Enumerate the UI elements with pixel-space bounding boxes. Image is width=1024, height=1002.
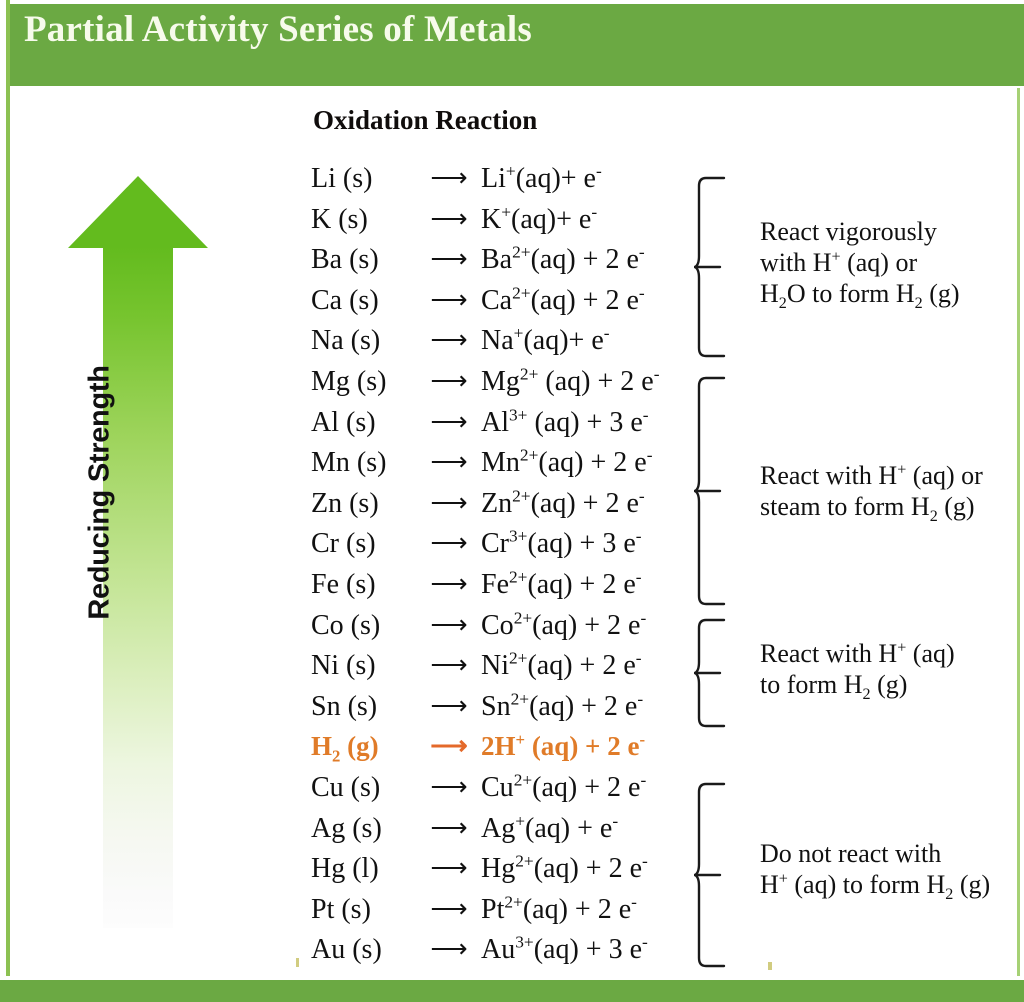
reaction-arrow-icon: ⟶ xyxy=(417,528,481,558)
reaction-arrow-icon: ⟶ xyxy=(417,772,481,802)
note-1-line-2: with H+ (aq) or xyxy=(760,247,960,278)
equation-product: Hg2+(aq) + 2 e- xyxy=(481,853,705,885)
equation-row: K (s)⟶K+(aq)+ e- xyxy=(305,204,705,245)
equation-row: Zn (s)⟶Zn2+(aq) + 2 e- xyxy=(305,488,705,529)
page-title: Partial Activity Series of Metals xyxy=(24,5,532,55)
equation-product: Fe2+(aq) + 2 e- xyxy=(481,569,705,601)
brace-group-2 xyxy=(694,376,728,606)
equation-row: Li (s)⟶Li+(aq)+ e- xyxy=(305,163,705,204)
note-3-line-1: React with H+ (aq) xyxy=(760,638,955,669)
equation-row: Cu (s)⟶Cu2+(aq) + 2 e- xyxy=(305,772,705,813)
equation-row: Ag (s)⟶Ag+(aq) + e- xyxy=(305,813,705,854)
equation-row: Au (s)⟶Au3+(aq) + 3 e- xyxy=(305,934,705,975)
reaction-arrow-icon: ⟶ xyxy=(417,407,481,437)
equation-reactant: Ni (s) xyxy=(305,650,417,682)
equation-product: Li+(aq)+ e- xyxy=(481,163,705,195)
equation-row: Hg (l)⟶Hg2+(aq) + 2 e- xyxy=(305,853,705,894)
equation-row: Ca (s)⟶Ca2+(aq) + 2 e- xyxy=(305,285,705,326)
note-2-line-2: steam to form H2 (g) xyxy=(760,491,983,522)
bottom-border xyxy=(0,980,1024,1002)
equation-product: K+(aq)+ e- xyxy=(481,204,705,236)
equation-reactant: Fe (s) xyxy=(305,569,417,601)
equation-row: Pt (s)⟶Pt2+(aq) + 2 e- xyxy=(305,894,705,935)
equation-row: Cr (s)⟶Cr3+(aq) + 3 e- xyxy=(305,528,705,569)
equation-product: Cu2+(aq) + 2 e- xyxy=(481,772,705,804)
reaction-arrow-icon: ⟶ xyxy=(417,285,481,315)
note-group-4: Do not react with H+ (aq) to form H2 (g) xyxy=(760,838,990,900)
reaction-arrow-icon: ⟶ xyxy=(417,813,481,843)
reaction-arrow-icon: ⟶ xyxy=(417,325,481,355)
equation-product: Mn2+(aq) + 2 e- xyxy=(481,447,705,479)
brace-group-3 xyxy=(694,618,728,728)
equation-row: H2 (g)⟶2H+ (aq) + 2 e- xyxy=(305,731,705,772)
reaction-arrow-icon: ⟶ xyxy=(417,731,481,761)
reducing-strength-arrow: Reducing Strength xyxy=(68,176,208,928)
note-3-line-2: to form H2 (g) xyxy=(760,669,955,700)
equation-reactant: Ag (s) xyxy=(305,813,417,845)
equation-reactant: Li (s) xyxy=(305,163,417,195)
equation-product: Ni2+(aq) + 2 e- xyxy=(481,650,705,682)
note-4-line-2: H+ (aq) to form H2 (g) xyxy=(760,869,990,900)
equation-reactant: Au (s) xyxy=(305,934,417,966)
equation-reactant: Ba (s) xyxy=(305,244,417,276)
equation-product: Pt2+(aq) + 2 e- xyxy=(481,894,705,926)
activity-series-diagram: Partial Activity Series of Metals Reduci… xyxy=(0,0,1024,1002)
equation-row: Ni (s)⟶Ni2+(aq) + 2 e- xyxy=(305,650,705,691)
equation-reactant: K (s) xyxy=(305,204,417,236)
equation-product: Zn2+(aq) + 2 e- xyxy=(481,488,705,520)
reaction-arrow-icon: ⟶ xyxy=(417,366,481,396)
equation-product: Cr3+(aq) + 3 e- xyxy=(481,528,705,560)
equation-product: 2H+ (aq) + 2 e- xyxy=(481,731,705,762)
note-group-1: React vigorously with H+ (aq) or H2O to … xyxy=(760,216,960,309)
equation-row: Na (s)⟶Na+(aq)+ e- xyxy=(305,325,705,366)
reaction-arrow-icon: ⟶ xyxy=(417,488,481,518)
equation-product: Ag+(aq) + e- xyxy=(481,813,705,845)
equation-product: Na+(aq)+ e- xyxy=(481,325,705,357)
note-2-line-1: React with H+ (aq) or xyxy=(760,460,983,491)
right-border xyxy=(1017,88,1020,978)
oxidation-reaction-heading: Oxidation Reaction xyxy=(313,105,537,136)
equation-row: Al (s)⟶Al3+ (aq) + 3 e- xyxy=(305,407,705,448)
equation-reactant: Pt (s) xyxy=(305,894,417,926)
scan-speck xyxy=(768,962,772,970)
equation-reactant: Hg (l) xyxy=(305,853,417,885)
equation-reactant: Cu (s) xyxy=(305,772,417,804)
brace-group-1 xyxy=(694,176,728,358)
reaction-arrow-icon: ⟶ xyxy=(417,934,481,964)
equation-row: Mn (s)⟶Mn2+(aq) + 2 e- xyxy=(305,447,705,488)
equation-reactant: Mn (s) xyxy=(305,447,417,479)
equation-product: Ca2+(aq) + 2 e- xyxy=(481,285,705,317)
equation-reactant: Al (s) xyxy=(305,407,417,439)
scan-speck xyxy=(296,958,299,967)
note-1-line-3: H2O to form H2 (g) xyxy=(760,278,960,309)
equation-reactant: Mg (s) xyxy=(305,366,417,398)
reaction-arrow-icon: ⟶ xyxy=(417,610,481,640)
reaction-arrow-icon: ⟶ xyxy=(417,163,481,193)
reaction-arrow-icon: ⟶ xyxy=(417,691,481,721)
reaction-arrow-icon: ⟶ xyxy=(417,853,481,883)
equation-row: Co (s)⟶Co2+(aq) + 2 e- xyxy=(305,610,705,651)
note-1-line-1: React vigorously xyxy=(760,216,960,247)
equation-reactant: Cr (s) xyxy=(305,528,417,560)
arrow-up-icon xyxy=(68,176,208,248)
equation-product: Mg2+ (aq) + 2 e- xyxy=(481,366,705,398)
equation-reactant: Co (s) xyxy=(305,610,417,642)
equation-reactant: Ca (s) xyxy=(305,285,417,317)
arrow-label: Reducing Strength xyxy=(84,283,117,703)
equation-reactant: H2 (g) xyxy=(305,731,417,762)
reaction-arrow-icon: ⟶ xyxy=(417,569,481,599)
reaction-arrow-icon: ⟶ xyxy=(417,894,481,924)
equation-product: Co2+(aq) + 2 e- xyxy=(481,610,705,642)
equation-list: Li (s)⟶Li+(aq)+ e-K (s)⟶K+(aq)+ e-Ba (s)… xyxy=(305,163,705,975)
header-banner: Partial Activity Series of Metals xyxy=(10,4,1024,86)
note-group-2: React with H+ (aq) or steam to form H2 (… xyxy=(760,460,983,522)
equation-product: Au3+(aq) + 3 e- xyxy=(481,934,705,966)
equation-reactant: Sn (s) xyxy=(305,691,417,723)
equation-row: Sn (s)⟶Sn2+(aq) + 2 e- xyxy=(305,691,705,732)
note-group-3: React with H+ (aq) to form H2 (g) xyxy=(760,638,955,700)
equation-reactant: Zn (s) xyxy=(305,488,417,520)
reaction-arrow-icon: ⟶ xyxy=(417,447,481,477)
brace-group-4 xyxy=(694,782,728,968)
equation-row: Fe (s)⟶ Fe2+(aq) + 2 e- xyxy=(305,569,705,610)
equation-product: Sn2+(aq) + 2 e- xyxy=(481,691,705,723)
equation-reactant: Na (s) xyxy=(305,325,417,357)
reaction-arrow-icon: ⟶ xyxy=(417,244,481,274)
left-border xyxy=(6,0,10,1002)
equation-row: Mg (s)⟶Mg2+ (aq) + 2 e- xyxy=(305,366,705,407)
equation-row: Ba (s)⟶Ba2+(aq) + 2 e- xyxy=(305,244,705,285)
reaction-arrow-icon: ⟶ xyxy=(417,204,481,234)
note-4-line-1: Do not react with xyxy=(760,838,990,869)
equation-product: Ba2+(aq) + 2 e- xyxy=(481,244,705,276)
equation-product: Al3+ (aq) + 3 e- xyxy=(481,407,705,439)
reaction-arrow-icon: ⟶ xyxy=(417,650,481,680)
